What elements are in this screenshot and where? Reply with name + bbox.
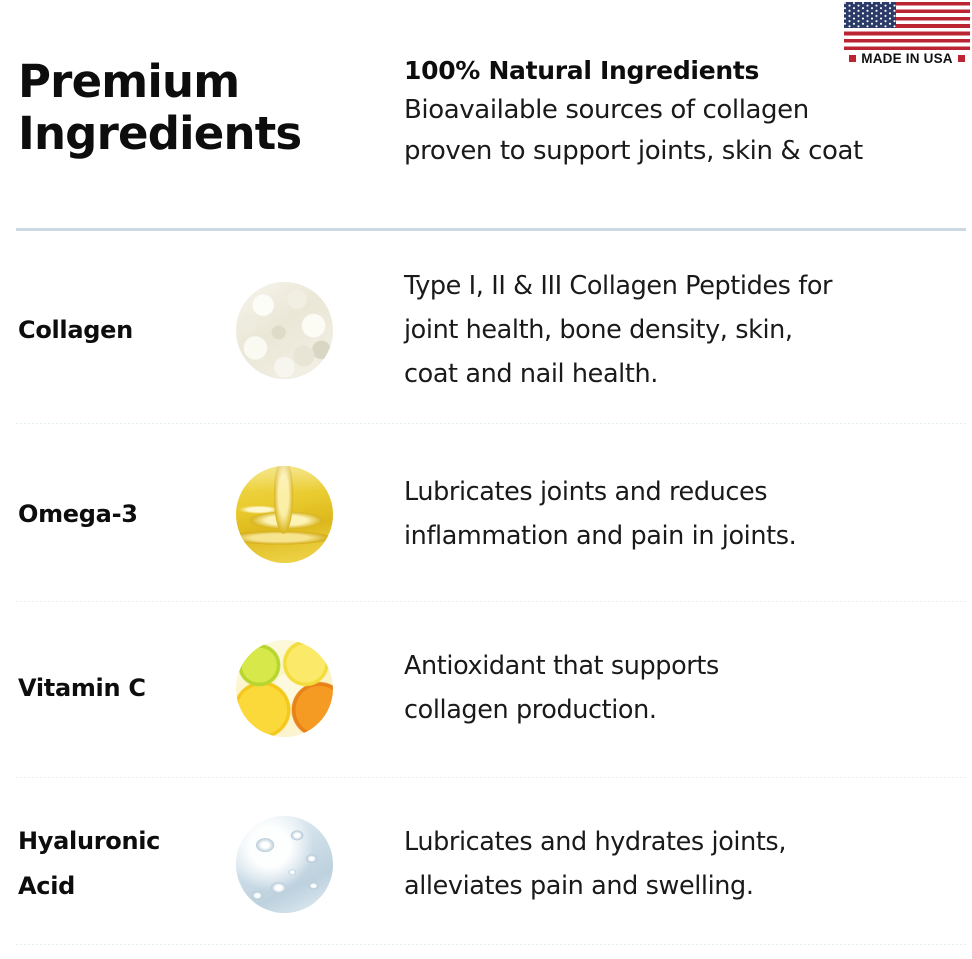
header-lead-text: 100% Natural Ingredients bbox=[404, 52, 934, 90]
collagen-desc-line-3: coat and nail health. bbox=[404, 352, 949, 396]
row-divider-2 bbox=[16, 601, 966, 602]
vitamin-c-citrus-image bbox=[236, 640, 333, 737]
omega3-desc-line-2: inflammation and pain in joints. bbox=[404, 514, 949, 558]
collagen-powder-image bbox=[236, 282, 333, 379]
vitamin-c-desc-line-1: Antioxidant that supports bbox=[404, 644, 949, 688]
usa-flag-icon bbox=[844, 2, 970, 50]
hyaluronic-acid-water-image bbox=[236, 816, 333, 913]
hyaluronic-acid-desc-line-2: alleviates pain and swelling. bbox=[404, 864, 949, 908]
ingredient-row-vitamin-c: Vitamin C Antioxidant that supports coll… bbox=[0, 616, 972, 760]
flag-canton bbox=[844, 2, 896, 28]
row-divider-3 bbox=[16, 777, 966, 778]
ingredient-description-omega-3: Lubricates joints and reduces inflammati… bbox=[404, 470, 949, 558]
hyaluronic-acid-label-line-2: Acid bbox=[18, 864, 218, 909]
ingredient-description-hyaluronic-acid: Lubricates and hydrates joints, alleviat… bbox=[404, 820, 949, 908]
omega3-oil-texture bbox=[236, 466, 333, 563]
header-sub-line-2: proven to support joints, skin & coat bbox=[404, 131, 934, 172]
hyaluronic-acid-desc-line-1: Lubricates and hydrates joints, bbox=[404, 820, 949, 864]
ingredient-row-collagen: Collagen Type I, II & III Collagen Pepti… bbox=[0, 256, 972, 404]
ingredient-row-omega-3: Omega-3 Lubricates joints and reduces in… bbox=[0, 440, 972, 588]
hyaluronic-acid-label-line-1: Hyaluronic bbox=[18, 819, 218, 864]
vitamin-c-desc-line-2: collagen production. bbox=[404, 688, 949, 732]
header-divider bbox=[16, 228, 966, 231]
header: Premium Ingredients 100% Natural Ingredi… bbox=[0, 52, 972, 212]
ingredient-name-hyaluronic-acid: Hyaluronic Acid bbox=[18, 819, 218, 909]
ingredient-row-hyaluronic-acid: Hyaluronic Acid Lubricates and hydrates … bbox=[0, 792, 972, 936]
omega3-desc-line-1: Lubricates joints and reduces bbox=[404, 470, 949, 514]
hyaluronic-acid-water-texture bbox=[236, 816, 333, 913]
collagen-desc-line-1: Type I, II & III Collagen Peptides for bbox=[404, 264, 949, 308]
row-divider-4 bbox=[16, 944, 966, 945]
header-intro: 100% Natural Ingredients Bioavailable so… bbox=[404, 52, 934, 172]
ingredient-name-omega-3: Omega-3 bbox=[18, 492, 218, 537]
collagen-desc-line-2: joint health, bone density, skin, bbox=[404, 308, 949, 352]
page-title-line-2: Ingredients bbox=[18, 108, 388, 160]
vitamin-c-citrus-texture bbox=[236, 640, 333, 737]
header-sub-text: Bioavailable sources of collagen proven … bbox=[404, 90, 934, 172]
page-title-line-1: Premium bbox=[18, 56, 388, 108]
premium-ingredients-infographic: MADE IN USA Premium Ingredients 100% Nat… bbox=[0, 0, 972, 959]
ingredient-name-vitamin-c: Vitamin C bbox=[18, 666, 218, 711]
header-sub-line-1: Bioavailable sources of collagen bbox=[404, 90, 934, 131]
ingredient-description-collagen: Type I, II & III Collagen Peptides for j… bbox=[404, 264, 949, 396]
row-divider-1 bbox=[16, 423, 966, 424]
ingredient-description-vitamin-c: Antioxidant that supports collagen produ… bbox=[404, 644, 949, 732]
omega3-oil-image bbox=[236, 466, 333, 563]
ingredient-name-collagen: Collagen bbox=[18, 308, 218, 353]
page-title: Premium Ingredients bbox=[18, 56, 388, 160]
flag-stars-icon bbox=[844, 2, 896, 28]
collagen-powder-texture bbox=[236, 282, 333, 379]
